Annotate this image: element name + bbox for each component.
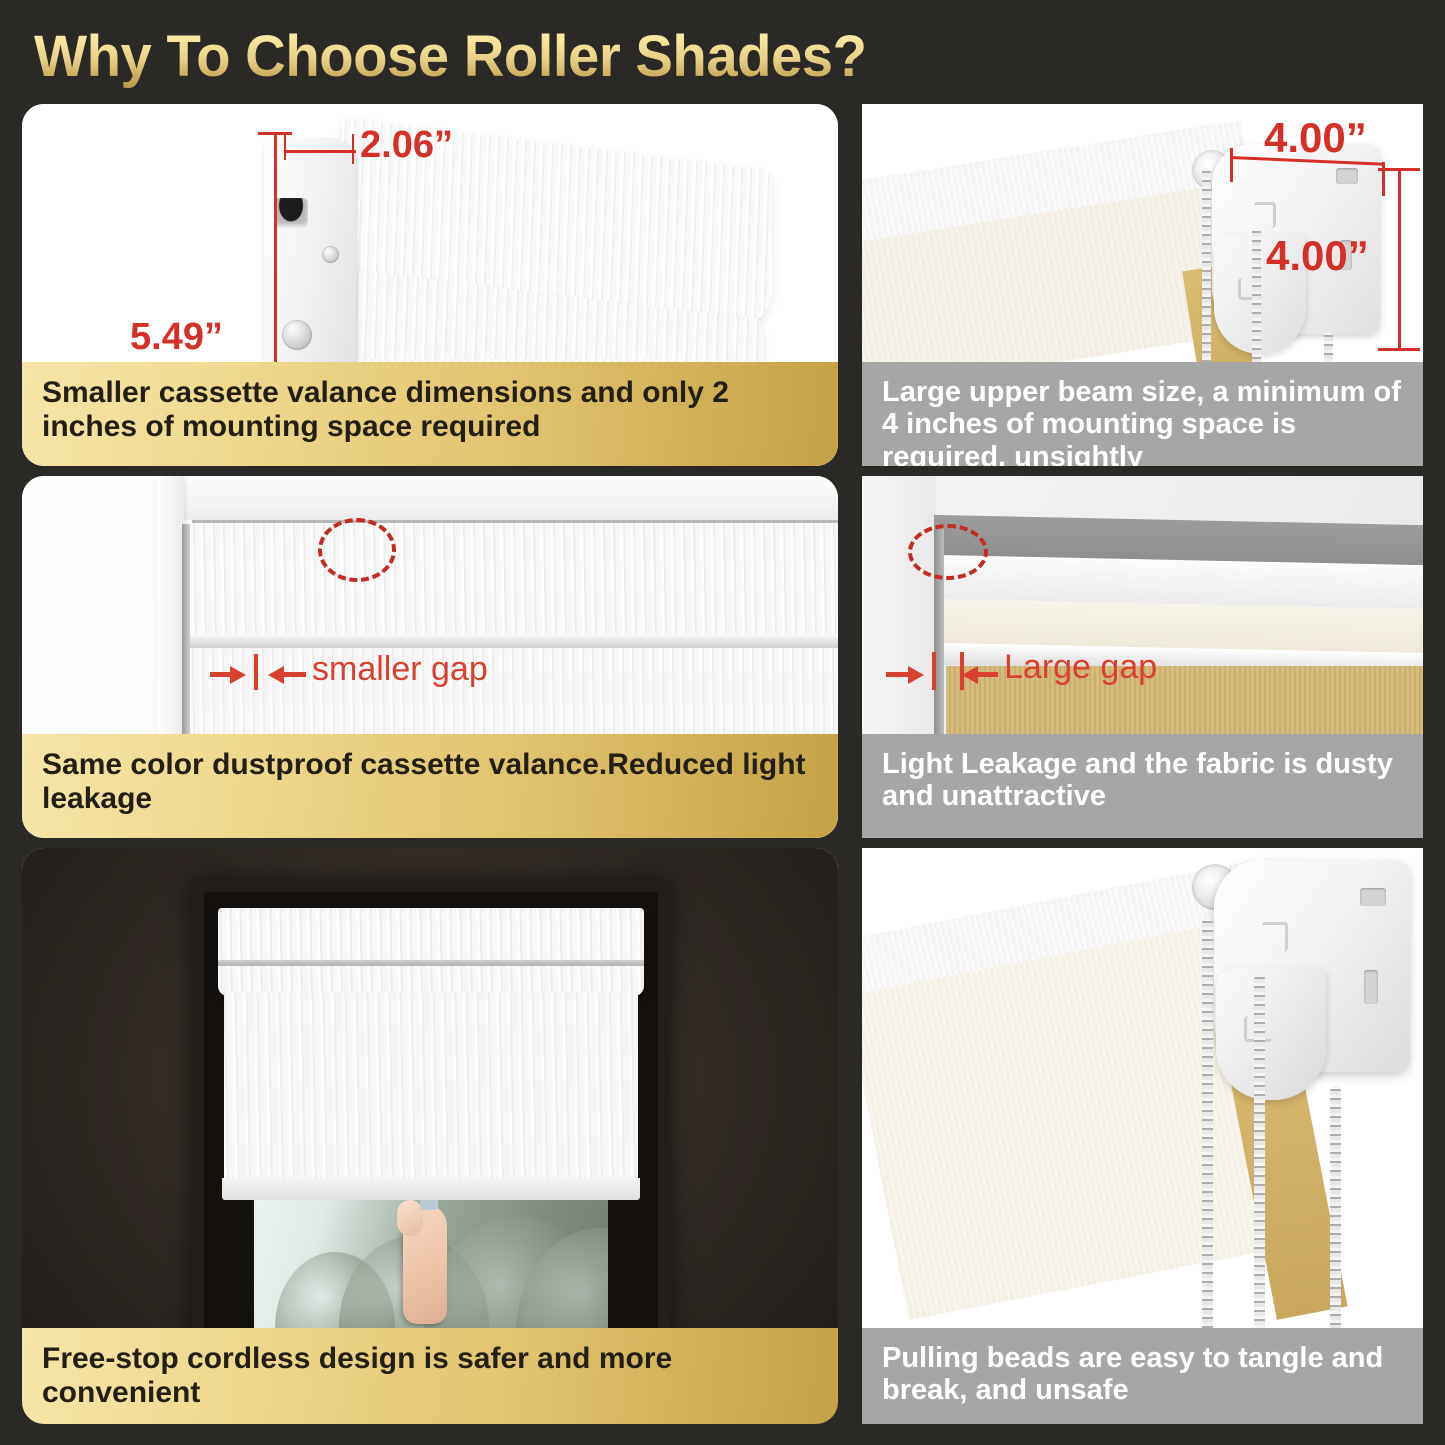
panel-2-caption: Large upper beam size, a minimum of 4 in… — [862, 362, 1423, 466]
panel-6-caption: Pulling beads are easy to tangle and bre… — [862, 1328, 1423, 1424]
panel-4-caption: Light Leakage and the fabric is dusty an… — [862, 734, 1423, 838]
large-gap-label: Large gap — [1004, 648, 1157, 687]
valance-endcap — [264, 138, 356, 370]
panel-2[interactable]: 4.00” 4.00” Large upper beam size, a min… — [862, 104, 1423, 466]
panel-cell-6: Pulling beads are easy to tangle and bre… — [862, 848, 1423, 1434]
panel-3-caption: Same color dustproof cassette valance.Re… — [22, 734, 838, 838]
page-title: Why To Choose Roller Shades? — [34, 23, 867, 90]
shade-pull-tab — [420, 1200, 438, 1210]
panel-cell-5: Free-stop cordless design is safer and m… — [22, 848, 862, 1434]
window-header-trim — [184, 476, 838, 520]
shade-bottom-rail — [222, 1178, 640, 1200]
bead-chain-left — [1202, 918, 1213, 1338]
panel-1[interactable]: 2.06” 5.49” Smaller cassette valance dim… — [22, 104, 838, 466]
gap-highlight-circle — [318, 518, 396, 582]
panel-cell-3: smaller gap Same color dustproof cassett… — [22, 476, 862, 848]
comparison-grid: 2.06” 5.49” Smaller cassette valance dim… — [22, 104, 1423, 1434]
title-bar: Why To Choose Roller Shades? — [0, 0, 1445, 100]
window-frame — [192, 880, 670, 1400]
panel-cell-2: 4.00” 4.00” Large upper beam size, a min… — [862, 104, 1423, 476]
panel-cell-4: Large gap Light Leakage and the fabric i… — [862, 476, 1423, 848]
bead-chain-mid — [1254, 974, 1265, 1338]
beam-width-dimension-label: 4.00” — [1264, 114, 1367, 162]
panel-5[interactable]: Free-stop cordless design is safer and m… — [22, 848, 838, 1424]
panel-cell-1: 2.06” 5.49” Smaller cassette valance dim… — [22, 104, 862, 476]
roller-shade-fabric — [224, 992, 638, 1186]
panel-1-caption: Smaller cassette valance dimensions and … — [22, 362, 838, 466]
middle-rail — [190, 634, 838, 648]
mounting-bracket-lower — [1216, 968, 1326, 1100]
cassette-valance — [192, 520, 838, 638]
width-dimension-label: 2.06” — [360, 124, 453, 167]
panel-5-caption: Free-stop cordless design is safer and m… — [22, 1328, 838, 1424]
height-dimension-label: 5.49” — [130, 316, 223, 359]
panel-6[interactable]: Pulling beads are easy to tangle and bre… — [862, 848, 1423, 1424]
panel-4[interactable]: Large gap Light Leakage and the fabric i… — [862, 476, 1423, 838]
hand — [403, 1204, 447, 1324]
beam-height-dimension-label: 4.00” — [1266, 232, 1369, 280]
gap-highlight-circle — [908, 524, 988, 580]
cassette-valance — [218, 908, 644, 996]
smaller-gap-label: smaller gap — [312, 650, 488, 689]
bead-chain-right — [1330, 1086, 1341, 1338]
panel-3[interactable]: smaller gap Same color dustproof cassett… — [22, 476, 838, 838]
